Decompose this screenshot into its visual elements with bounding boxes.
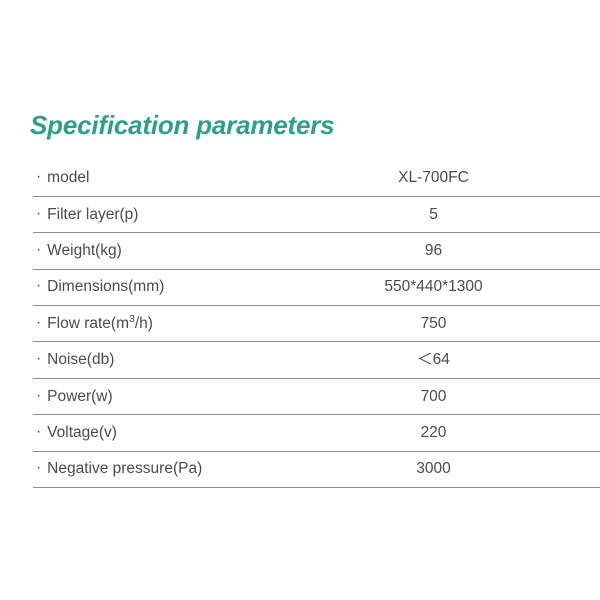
spec-label-cell: ·Weight(kg) <box>33 233 296 269</box>
spec-label-cell: ·model <box>33 160 296 196</box>
spec-value-text: 550*440*1300 <box>384 278 482 295</box>
table-row: ·model XL-700FC <box>33 160 600 196</box>
spec-value-text: 96 <box>425 242 442 259</box>
spec-label-text: Negative pressure(Pa) <box>47 460 202 477</box>
spec-value-cell: XL-700FC <box>296 160 600 196</box>
bullet-icon: · <box>36 205 41 223</box>
bullet-icon: · <box>36 423 41 441</box>
spec-value-cell: 550*440*1300 <box>296 269 600 305</box>
spec-label-text: Voltage(v) <box>47 424 117 441</box>
spec-label-cell: ·Dimensions(mm) <box>33 269 296 305</box>
bullet-icon: · <box>36 314 41 332</box>
spec-label-cell: ·Voltage(v) <box>33 415 296 451</box>
bullet-icon: · <box>36 277 41 295</box>
bullet-icon: · <box>36 241 41 259</box>
spec-value-text: ＜64 <box>417 351 450 368</box>
spec-label-text: Dimensions(mm) <box>47 278 164 295</box>
spec-value-text: XL-700FC <box>398 169 469 186</box>
spec-label-text: Filter layer(p) <box>47 206 138 223</box>
table-row: ·Flow rate(m3/h) 750 <box>33 306 600 342</box>
bullet-icon: · <box>36 168 41 186</box>
spec-value-text: 3000 <box>416 460 450 477</box>
spec-label-text: Noise(db) <box>47 351 114 368</box>
specification-table: ·model XL-700FC ·Filter layer(p) 5 ·Weig… <box>33 160 600 488</box>
table-row: ·Voltage(v) 220 <box>33 415 600 451</box>
spec-value-cell: 5 <box>296 196 600 232</box>
spec-label-cell: ·Noise(db) <box>33 342 296 378</box>
spec-label-text: Flow rate(m <box>47 315 129 332</box>
spec-value-cell: 750 <box>296 306 600 342</box>
spec-value-text: 5 <box>429 206 438 223</box>
spec-label-cell: ·Flow rate(m3/h) <box>33 306 296 342</box>
bullet-icon: · <box>36 459 41 477</box>
spec-label-cell: ·Filter layer(p) <box>33 196 296 232</box>
spec-label-text: Power(w) <box>47 388 112 405</box>
spec-label-cell: ·Power(w) <box>33 378 296 414</box>
spec-value-cell: 220 <box>296 415 600 451</box>
spec-label-cell: ·Negative pressure(Pa) <box>33 451 296 487</box>
table-row: ·Dimensions(mm) 550*440*1300 <box>33 269 600 305</box>
page-title: Specification parameters <box>30 110 334 140</box>
spec-label-text-suffix: /h) <box>135 315 153 332</box>
spec-value-cell: 700 <box>296 378 600 414</box>
bullet-icon: · <box>36 387 41 405</box>
table-row: ·Weight(kg) 96 <box>33 233 600 269</box>
spec-value-text: 750 <box>421 315 447 332</box>
specification-table-body: ·model XL-700FC ·Filter layer(p) 5 ·Weig… <box>33 160 600 488</box>
spec-value-text: 220 <box>421 424 447 441</box>
spec-value-text: 700 <box>421 388 447 405</box>
spec-value-cell: ＜64 <box>296 342 600 378</box>
table-row: ·Power(w) 700 <box>33 378 600 414</box>
table-row: ·Negative pressure(Pa) 3000 <box>33 451 600 487</box>
spec-value-cell: 96 <box>296 233 600 269</box>
table-row: ·Filter layer(p) 5 <box>33 196 600 232</box>
table-row: ·Noise(db) ＜64 <box>33 342 600 378</box>
specification-page: Specification parameters ·model XL-700FC… <box>0 0 600 600</box>
bullet-icon: · <box>36 350 41 368</box>
spec-label-text: model <box>47 169 89 186</box>
spec-label-text: Weight(kg) <box>47 242 122 259</box>
spec-value-cell: 3000 <box>296 451 600 487</box>
